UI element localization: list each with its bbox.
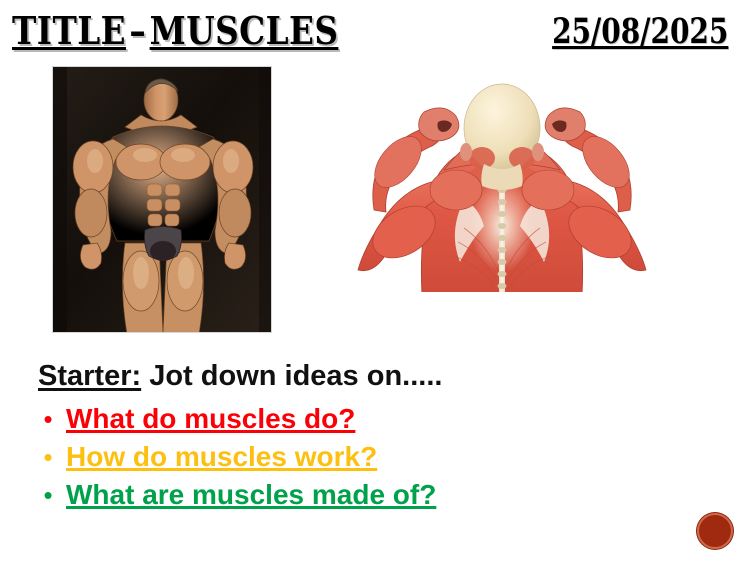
left-deltoid [430,170,482,210]
bullet-label-3: What are muscles made of? [66,476,436,514]
bullet-marker-icon: • [30,400,66,438]
corner-badge[interactable] [697,513,733,549]
page-title: TITLE–MUSCLES [12,9,338,53]
bullet-marker-icon: • [30,476,66,514]
page-title-dash: – [126,8,150,53]
page-title-part1: TITLE [12,8,126,53]
bullet-label-1: What do muscles do? [66,400,355,438]
bullet-label-2: How do muscles work? [66,438,377,476]
page-title-part2: MUSCLES [150,8,339,53]
back-muscles-graphic [352,60,652,308]
starter-label: Starter: [38,360,141,392]
list-item: • What are muscles made of? [30,476,710,514]
starter-text: Jot down ideas on..... [141,360,442,392]
bodybuilder-figure-graphic [53,67,272,333]
starter-line: Starter: Jot down ideas on..... [38,358,442,394]
bullet-marker-icon: • [30,438,66,476]
slide-canvas: TITLE–MUSCLES 25/08/2025 [0,0,750,563]
list-item: • How do muscles work? [30,438,710,476]
bullet-list: • What do muscles do? • How do muscles w… [30,400,710,514]
illustration-back-muscles [352,60,652,308]
slide-date: 25/08/2025 [552,11,728,53]
right-deltoid [522,170,574,210]
list-item: • What do muscles do? [30,400,710,438]
photo-bodybuilder [52,66,272,333]
